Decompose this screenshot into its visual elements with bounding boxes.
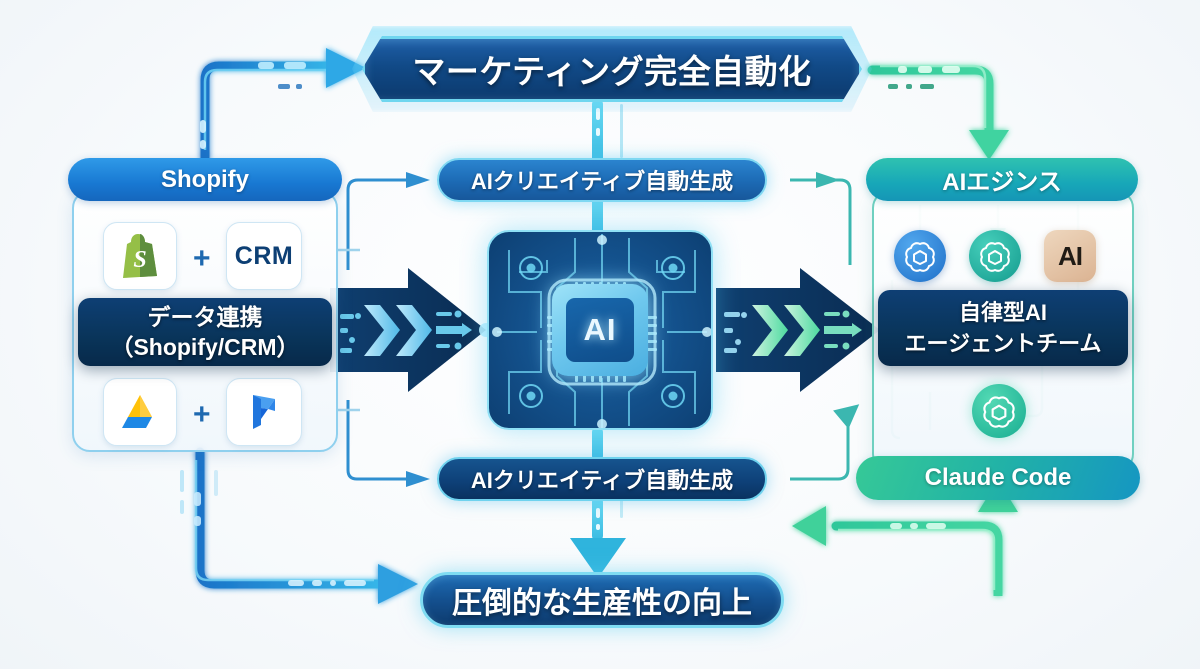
- ai-core-die: AI: [552, 284, 648, 376]
- prisma-app-icon-chip[interactable]: [226, 378, 302, 446]
- ai-processor-chip: AI: [487, 230, 713, 430]
- openai-glyph: [978, 239, 1012, 273]
- openai-logo-teal-icon[interactable]: [969, 230, 1021, 282]
- agent-team-line2: エージェントチーム: [905, 328, 1102, 359]
- title-to-aiengine-connector: [872, 66, 1009, 160]
- anthropic-logo-icon[interactable]: AI: [1044, 230, 1096, 282]
- diagram-canvas: マーケティング完全自動化 Shopify S + CRM データ連携 （Shop…: [0, 0, 1200, 669]
- agent-team-line1: 自律型AI: [959, 297, 1047, 328]
- plus-sign-top: +: [193, 244, 211, 274]
- shopify-bag-icon: S: [119, 233, 161, 279]
- data-integration-line2: （Shopify/CRM）: [110, 332, 299, 362]
- creative-generation-pill-top[interactable]: AIクリエイティブ自動生成: [437, 158, 767, 202]
- outcome-bar: 圧倒的な生産性の向上: [420, 572, 784, 628]
- google-drive-icon-chip[interactable]: [103, 378, 177, 446]
- data-integration-line1: データ連携: [148, 302, 263, 332]
- crm-icon-chip[interactable]: CRM: [226, 222, 302, 290]
- pill-top-feeder: [348, 172, 430, 270]
- anthropic-glyph: AI: [1058, 241, 1082, 272]
- autonomous-agent-team-label: 自律型AI エージェントチーム: [878, 290, 1128, 366]
- page-title: マーケティング完全自動化: [362, 36, 862, 102]
- data-integration-label: データ連携 （Shopify/CRM）: [78, 298, 332, 366]
- crm-label: CRM: [235, 242, 293, 271]
- data-to-result-connector: [196, 452, 418, 604]
- google-drive-icon: [118, 392, 162, 432]
- creative-generation-pill-bottom[interactable]: AIクリエイティブ自動生成: [437, 457, 767, 501]
- pill-bottom-feeder: [348, 400, 430, 487]
- svg-text:S: S: [133, 247, 146, 273]
- openai-glyph: [903, 239, 937, 273]
- ai-core-label: AI: [566, 298, 634, 362]
- claude-code-footer[interactable]: Claude Code: [856, 456, 1140, 500]
- shopify-bag-icon-chip[interactable]: S: [103, 222, 177, 290]
- bottom-left-dashes: [180, 470, 366, 586]
- openai-logo-teal-bottom-icon[interactable]: [972, 384, 1026, 438]
- openai-logo-blue-icon[interactable]: [894, 230, 946, 282]
- openai-glyph: [981, 393, 1017, 429]
- pill-bottom-exit: [790, 395, 867, 479]
- right-panel-header[interactable]: AIエジンス: [866, 158, 1138, 201]
- plus-sign-bottom: +: [193, 400, 211, 430]
- left-panel-header[interactable]: Shopify: [68, 158, 342, 201]
- data-to-ai-block-arrow: [330, 268, 493, 392]
- title-aiengine-dashes: [888, 66, 960, 89]
- ai-to-agents-block-arrow: [716, 268, 880, 392]
- prisma-app-icon: [244, 391, 284, 433]
- shopify-title-dashes: [200, 62, 306, 149]
- pill-top-exit: [790, 172, 850, 265]
